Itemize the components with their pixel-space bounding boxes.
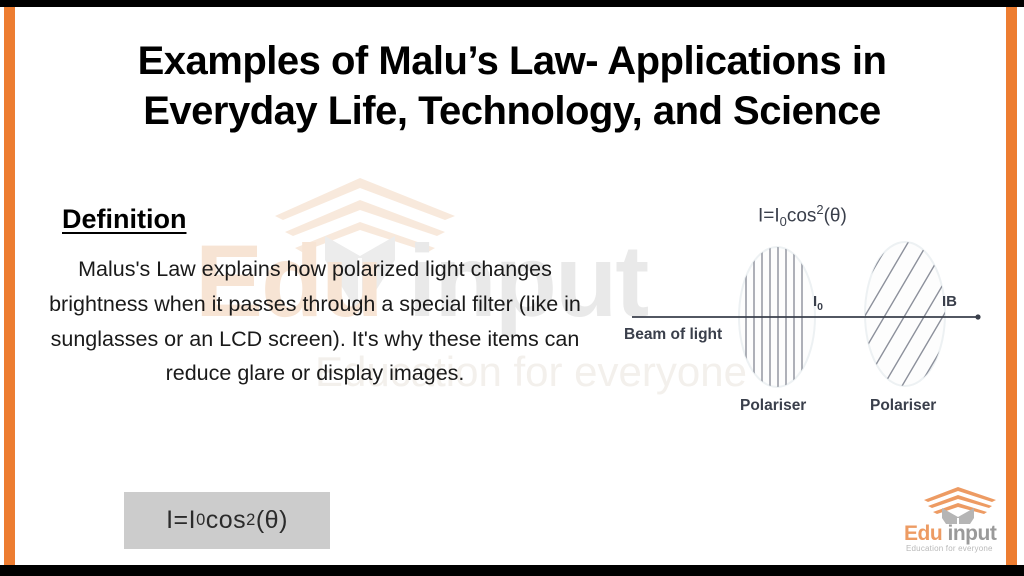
beam-of-light-label: Beam of light <box>624 326 722 344</box>
malus-law-formula-box: I=I0cos2(θ) <box>124 492 330 549</box>
formula-exponent: 2 <box>246 511 256 530</box>
logo-brand-input: input <box>942 522 996 545</box>
formula-subscript: 0 <box>196 511 206 530</box>
logo-tagline: Education for everyone <box>906 544 993 553</box>
frame-bar-left-accent <box>4 7 15 565</box>
frame-bar-bottom <box>0 565 1024 576</box>
incident-intensity-label: I0 <box>813 293 823 313</box>
slide-canvas: Edu input Education for everyone Example… <box>0 0 1024 576</box>
frame-bar-right-accent <box>1006 7 1017 565</box>
eduinput-logo: Edu input Education for everyone <box>900 486 1008 558</box>
graduation-cap-icon <box>916 484 1024 524</box>
logo-brand-edu: Edu <box>904 522 942 545</box>
slide-title: Examples of Malu’s Law- Applications in … <box>50 36 974 136</box>
diagram-graphics <box>610 192 1006 432</box>
formula-prefix: I=I <box>166 506 196 535</box>
definition-heading: Definition <box>62 204 186 235</box>
polariser-diagram: I=I0cos2(θ) <box>610 192 1006 432</box>
transmitted-intensity-label: IB <box>942 293 957 310</box>
frame-bar-top <box>0 0 1024 7</box>
polariser-2-label: Polariser <box>870 397 936 415</box>
formula-function: cos <box>206 506 246 535</box>
definition-body-text: Malus's Law explains how polarized light… <box>30 252 600 391</box>
logo-brand: Edu input <box>904 522 996 546</box>
formula-argument: (θ) <box>256 506 288 535</box>
incident-intensity-subscript: 0 <box>817 301 823 313</box>
polariser-1-label: Polariser <box>740 397 806 415</box>
